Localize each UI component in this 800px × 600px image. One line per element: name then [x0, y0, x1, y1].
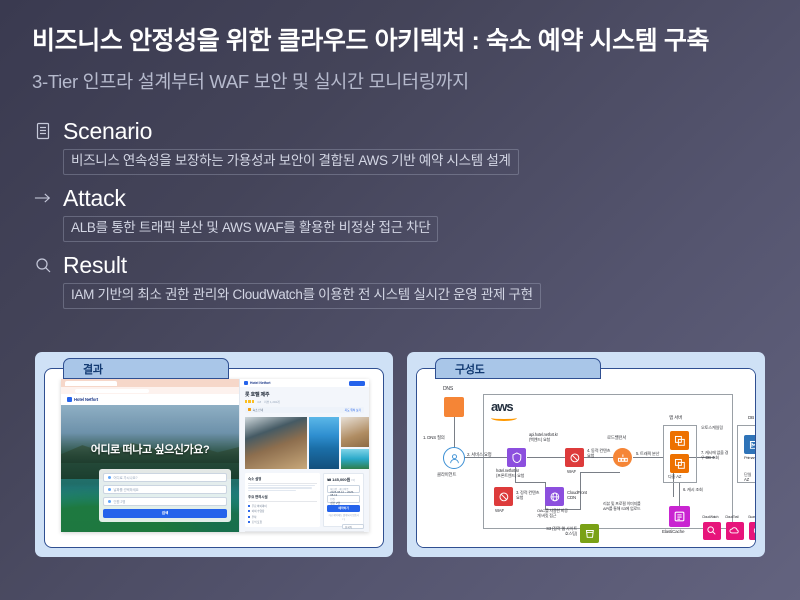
- gallery-photo-main[interactable]: [245, 417, 307, 469]
- summary-label-attack: Attack: [63, 185, 126, 212]
- cloudtrail-label: CloudTrail: [725, 516, 738, 520]
- pin-icon: [108, 476, 111, 479]
- waf-bottom-node[interactable]: [494, 487, 513, 506]
- check-icon: [248, 521, 250, 523]
- browser-urlbar[interactable]: [61, 387, 239, 394]
- alb-label: 로드밸런서: [607, 435, 626, 440]
- map-link[interactable]: 지도 위치 보기: [345, 408, 361, 412]
- dns-label: DNS: [443, 387, 453, 393]
- aws-architecture-diagram: aws DNS 1. DNS 질의: [417, 369, 755, 547]
- elasticache-label: ElastiCache: [662, 529, 684, 534]
- cloudfront-node[interactable]: [545, 487, 564, 506]
- notice-bar: 숙소 안내 지도 위치 보기: [245, 407, 364, 413]
- gallery-photo-3[interactable]: [309, 417, 339, 469]
- logo-mark-icon: [67, 397, 72, 402]
- person-icon: [108, 500, 111, 503]
- about-line: [248, 487, 312, 488]
- info-icon: [248, 408, 251, 411]
- summary-item-attack: Attack ALB를 통한 트래픽 분산 및 AWS WAF를 활용한 비정상…: [34, 183, 800, 242]
- guardduty-node[interactable]: [749, 522, 756, 540]
- cloudtrail-node[interactable]: [726, 522, 744, 540]
- amenities-heading: 주요 편의시설: [248, 494, 317, 499]
- panel-tab-label-architecture: 구성도: [455, 361, 484, 377]
- amenity-label: 야외 수영장: [252, 509, 265, 513]
- flow-1-label: 1. DNS 질의: [423, 435, 445, 440]
- check-icon: [248, 510, 250, 512]
- app-server-1-node[interactable]: [670, 431, 689, 450]
- notice-text: 숙소 안내: [253, 408, 264, 412]
- summary-desc-result: IAM 기반의 최소 권한 관리와 CloudWatch를 이용한 전 시스템 …: [63, 283, 541, 309]
- db-label: DB: [748, 415, 754, 420]
- detail-columns: 숙소 설명 주요 편의시설 무료 와이파이: [245, 473, 364, 528]
- aws-logo: aws: [491, 399, 517, 421]
- route53-node[interactable]: [507, 448, 526, 467]
- rating-value: 4.8: [257, 400, 261, 404]
- rating-row: 4.8 리뷰 1,204개: [245, 400, 364, 404]
- flow-5-label: 5. 트래픽 분산: [636, 452, 659, 457]
- autoscaling-note-label: 오토스케일링: [701, 426, 723, 431]
- about-heading: 숙소 설명: [248, 476, 317, 481]
- api-note-label: api.hotel.netfort.kr (백엔드) 요청: [529, 433, 558, 442]
- book-button[interactable]: 예약하기: [327, 505, 360, 512]
- cloudwatch-label: CloudWatch: [702, 516, 718, 520]
- divider: [248, 483, 317, 484]
- landing-page: Hotel Netfort 어디로 떠나고 싶으신가요? 어디로 가시나요? 날…: [61, 379, 239, 532]
- amenities-list: 무료 와이파이 야외 수영장 주차: [248, 504, 317, 525]
- site-logo[interactable]: Hotel Netfort: [61, 394, 239, 405]
- price-unit: / 박: [351, 479, 355, 482]
- panel-architecture: 구성도 aws: [407, 352, 765, 557]
- detail-page: Hotel Netfort 롯 호텔 제주 4.8 리뷰 1,204개: [239, 379, 369, 532]
- flow-3-label: 3. 정적 컨텐츠 요청: [516, 491, 542, 501]
- summary-head: Scenario: [34, 116, 800, 146]
- check-icon: [248, 505, 250, 507]
- document-icon: [34, 122, 52, 140]
- connector: [527, 457, 565, 458]
- dns-node[interactable]: [444, 397, 464, 417]
- flow-7-label: 7. 캐시에 없을 경우 DB 조회: [701, 451, 731, 460]
- destination-input[interactable]: 어디로 가시나요?: [103, 473, 227, 482]
- waf-top-label: WAF: [567, 469, 576, 474]
- footer-links[interactable]: 이용약관 · 개인정보처리방침 · 고객센터: [245, 531, 364, 532]
- hero-title: 어디로 떠나고 싶으신가요?: [61, 441, 239, 457]
- star-icon: [252, 400, 254, 402]
- app-server-2-node[interactable]: [670, 454, 689, 473]
- db-primary-label: Primary: [744, 456, 756, 461]
- search-button[interactable]: 검색: [103, 509, 227, 518]
- elasticache-node[interactable]: [669, 506, 690, 527]
- route53-sublabel: hotel.netfort.kr (프론트엔드) 요청: [496, 469, 524, 478]
- panel-tab-label-result: 결과: [83, 361, 103, 377]
- header: 비즈니스 안정성을 위한 클라우드 아키텍처 : 숙소 예약 시스템 구축 3-…: [0, 0, 800, 94]
- app-az-label: 다중 AZ: [668, 475, 681, 480]
- page-title: 비즈니스 안정성을 위한 클라우드 아키텍처 : 숙소 예약 시스템 구축: [32, 26, 800, 57]
- browser-screenshot: Hotel Netfort 어디로 떠나고 싶으신가요? 어디로 가시나요? 날…: [61, 379, 369, 532]
- rating-count: 리뷰 1,204개: [264, 400, 280, 404]
- date-picker[interactable]: 체크인 · 체크아웃 2025-08-12 ~ 2025-08-13: [327, 485, 360, 493]
- browser-chrome: [61, 379, 239, 387]
- amenity-label: 주차: [252, 515, 257, 519]
- connector: [633, 457, 663, 458]
- db-az-label: 단일 AZ: [744, 473, 755, 483]
- summary-desc-attack: ALB를 통한 트래픽 분산 및 AWS WAF를 활용한 비정상 접근 차단: [63, 216, 438, 242]
- header-cta-button[interactable]: [349, 381, 365, 386]
- price-value: ₩ 145,000원: [327, 477, 350, 482]
- calendar-icon: [108, 488, 111, 491]
- client-node[interactable]: [443, 447, 465, 469]
- detail-logo-text: Hotel Netfort: [250, 381, 271, 385]
- about-section: 숙소 설명 주요 편의시설 무료 와이파이: [245, 473, 320, 528]
- panel-body-architecture: aws DNS 1. DNS 질의: [416, 368, 756, 548]
- guest-input[interactable]: 인원 2명: [103, 497, 227, 506]
- amenity-item: 조식 포함: [248, 520, 280, 524]
- detail-content: 롯 호텔 제주 4.8 리뷰 1,204개 숙소 안내 지도 위치 보기: [240, 387, 369, 532]
- logo-mark-icon: [244, 381, 248, 385]
- star-icon: [248, 400, 250, 402]
- summary-item-result: Result IAM 기반의 최소 권한 관리와 CloudWatch를 이용한…: [34, 250, 800, 309]
- connector: [454, 415, 455, 451]
- flow-6-label: 6. 캐시 조회: [683, 488, 703, 493]
- cloudfront-label: CloudFront CDN: [567, 490, 587, 500]
- gallery-photo-2[interactable]: [341, 417, 369, 447]
- panels-row: 결과 Hotel Netfort 어디로 떠나고 싶으신: [0, 352, 800, 557]
- browser-tab[interactable]: [65, 381, 117, 387]
- oac-note-label: OAC를 사용한 비공개 버킷 접근: [537, 509, 569, 518]
- summary-list: Scenario 비즈니스 연속성을 보장하는 가용성과 보안이 결합된 AWS…: [34, 116, 800, 309]
- s3-label: S3 (정적 웹 사이트 호스팅): [529, 527, 577, 537]
- amenity-item: 무료 와이파이: [248, 504, 280, 508]
- connector: [515, 482, 545, 483]
- booking-card: ₩ 145,000원 / 박 체크인 · 체크아웃 2025-08-12 ~ 2…: [323, 473, 364, 528]
- check-icon: [248, 516, 250, 518]
- logo-text: Hotel Netfort: [74, 397, 98, 402]
- alb-node[interactable]: [613, 448, 632, 467]
- photo-gallery[interactable]: [245, 417, 364, 469]
- star-icon: [245, 400, 247, 402]
- language-select[interactable]: 한국어: [342, 524, 364, 529]
- guardduty-label: GuardDuty: [748, 516, 756, 520]
- panel-body-result: Hotel Netfort 어디로 떠나고 싶으신가요? 어디로 가시나요? 날…: [44, 368, 384, 548]
- url-input[interactable]: [75, 389, 149, 393]
- amenity-label: 조식 포함: [252, 520, 262, 524]
- date-input[interactable]: 날짜를 선택하세요: [103, 485, 227, 494]
- divider: [248, 501, 317, 502]
- summary-item-scenario: Scenario 비즈니스 연속성을 보장하는 가용성과 보안이 결합된 AWS…: [34, 116, 800, 175]
- search-form: 어디로 가시나요? 날짜를 선택하세요 인원 2명 검색: [99, 469, 231, 522]
- detail-header: Hotel Netfort: [240, 379, 369, 387]
- date-placeholder: 날짜를 선택하세요: [114, 487, 139, 492]
- destination-placeholder: 어디로 가시나요?: [114, 475, 138, 480]
- app-server-label: 앱 서버: [669, 415, 682, 420]
- connector: [679, 483, 680, 507]
- amenity-item: 주차: [248, 515, 280, 519]
- about-line: [248, 485, 315, 486]
- hotel-name: 롯 호텔 제주: [245, 391, 364, 398]
- connector: [462, 457, 507, 458]
- s3-node[interactable]: [580, 524, 599, 543]
- summary-head: Result: [34, 250, 800, 280]
- amenity-label: 무료 와이파이: [252, 504, 267, 508]
- flow-4-label: 4. 동적 컨텐츠 요청: [587, 449, 613, 459]
- about-line: [248, 490, 296, 491]
- summary-label-result: Result: [63, 252, 127, 279]
- gallery-photo-4[interactable]: [341, 449, 369, 469]
- waf-bottom-label: WAF: [495, 508, 504, 513]
- book-note: 지금 예약해도 결제되지 않습니다: [327, 513, 360, 521]
- flow-2-label: 2. 서비스 요청: [467, 452, 492, 457]
- summary-head: Attack: [34, 183, 800, 213]
- waf-top-node[interactable]: [565, 448, 584, 467]
- client-label: 클라이언트: [437, 472, 456, 477]
- s3-upload-note-label: 리뷰 및 프로필 이미지를 API를 통해 S3에 업로드: [603, 502, 647, 511]
- search-icon: [34, 256, 52, 274]
- summary-label-scenario: Scenario: [63, 118, 152, 145]
- panel-result: 결과 Hotel Netfort 어디로 떠나고 싶으신: [35, 352, 393, 557]
- cloudwatch-node[interactable]: [703, 522, 721, 540]
- guest-placeholder: 인원 2명: [114, 499, 126, 504]
- price-row: ₩ 145,000원 / 박: [327, 477, 360, 483]
- summary-desc-scenario: 비즈니스 연속성을 보장하는 가용성과 보안이 결합된 AWS 기반 예약 시스…: [63, 149, 519, 175]
- guest-value: 성인 2명: [330, 501, 357, 505]
- page-subtitle: 3-Tier 인프라 설계부터 WAF 보안 및 실시간 모니터링까지: [32, 68, 800, 94]
- arrow-right-icon: [34, 189, 52, 207]
- hero-banner: 어디로 떠나고 싶으신가요? 어디로 가시나요? 날짜를 선택하세요: [61, 405, 239, 532]
- connector: [580, 472, 620, 473]
- amenity-item: 야외 수영장: [248, 509, 280, 513]
- db-primary-node[interactable]: [744, 435, 756, 454]
